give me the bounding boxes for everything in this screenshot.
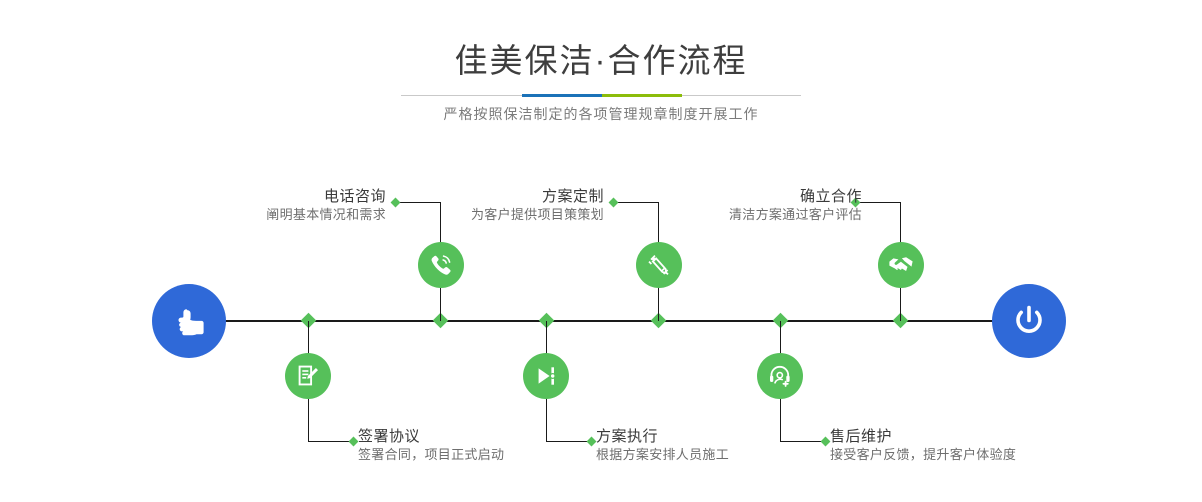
plan-pencil-icon (646, 252, 673, 279)
step-6-subtitle: 接受客户反馈，提升客户体验度 (830, 446, 1016, 464)
pointing-hand-icon (169, 301, 209, 341)
divider-blue-segment (522, 94, 602, 97)
step-4-node[interactable] (523, 353, 569, 399)
step-3-subtitle: 为客户提供项目策策划 (471, 206, 604, 224)
step-5-node[interactable] (878, 242, 924, 288)
step-5-subtitle: 清洁方案通过客户评估 (729, 206, 862, 224)
step-3-node[interactable] (636, 242, 682, 288)
step-1-subtitle: 阐明基本情况和需求 (266, 206, 386, 224)
page-subtitle: 严格按照保洁制定的各项管理规章制度开展工作 (0, 107, 1202, 121)
step-1-horizontal-connector (395, 202, 441, 203)
step-1-title: 电话咨询 (266, 188, 386, 206)
sign-document-icon (295, 363, 321, 389)
step-5-title: 确立合作 (729, 188, 862, 206)
timeline-start-cap (152, 284, 226, 358)
power-icon (1008, 300, 1050, 342)
step-4-title: 方案执行 (596, 428, 729, 446)
step-3-label-dot (609, 198, 619, 208)
step-6-label: 售后维护 接受客户反馈，提升客户体验度 (830, 428, 1016, 464)
step-3-horizontal-connector (613, 202, 659, 203)
step-2-subtitle: 签署合同，项目正式启动 (358, 446, 504, 464)
divider-green-segment (602, 94, 682, 97)
step-3-title: 方案定制 (471, 188, 604, 206)
step-6-title: 售后维护 (830, 428, 1016, 446)
step-2-label-dot (349, 437, 359, 447)
step-5-label: 确立合作 清洁方案通过客户评估 (729, 188, 862, 224)
page-title: 佳美保洁·合作流程 (0, 44, 1202, 77)
execute-play-icon (533, 363, 559, 389)
step-6-horizontal-connector (780, 441, 825, 442)
step-2-label: 签署协议 签署合同，项目正式启动 (358, 428, 504, 464)
step-6-label-dot (821, 437, 831, 447)
step-2-node[interactable] (285, 353, 331, 399)
step-3-label: 方案定制 为客户提供项目策策划 (471, 188, 604, 224)
step-2-horizontal-connector (308, 441, 353, 442)
step-4-label-dot (587, 437, 597, 447)
step-2-title: 签署协议 (358, 428, 504, 446)
title-divider (401, 94, 801, 97)
step-1-label-dot (391, 198, 401, 208)
step-1-node[interactable] (418, 242, 464, 288)
timeline-axis (225, 320, 1000, 322)
step-4-subtitle: 根据方案安排人员施工 (596, 446, 729, 464)
step-1-label: 电话咨询 阐明基本情况和需求 (266, 188, 386, 224)
phone-call-icon (428, 252, 454, 278)
timeline-end-cap (992, 284, 1066, 358)
step-4-label: 方案执行 根据方案安排人员施工 (596, 428, 729, 464)
flowchart-page: 佳美保洁·合作流程 严格按照保洁制定的各项管理规章制度开展工作 (0, 0, 1202, 502)
customer-support-icon (767, 363, 793, 389)
handshake-icon (887, 251, 915, 279)
step-4-horizontal-connector (546, 441, 591, 442)
step-6-node[interactable] (757, 353, 803, 399)
